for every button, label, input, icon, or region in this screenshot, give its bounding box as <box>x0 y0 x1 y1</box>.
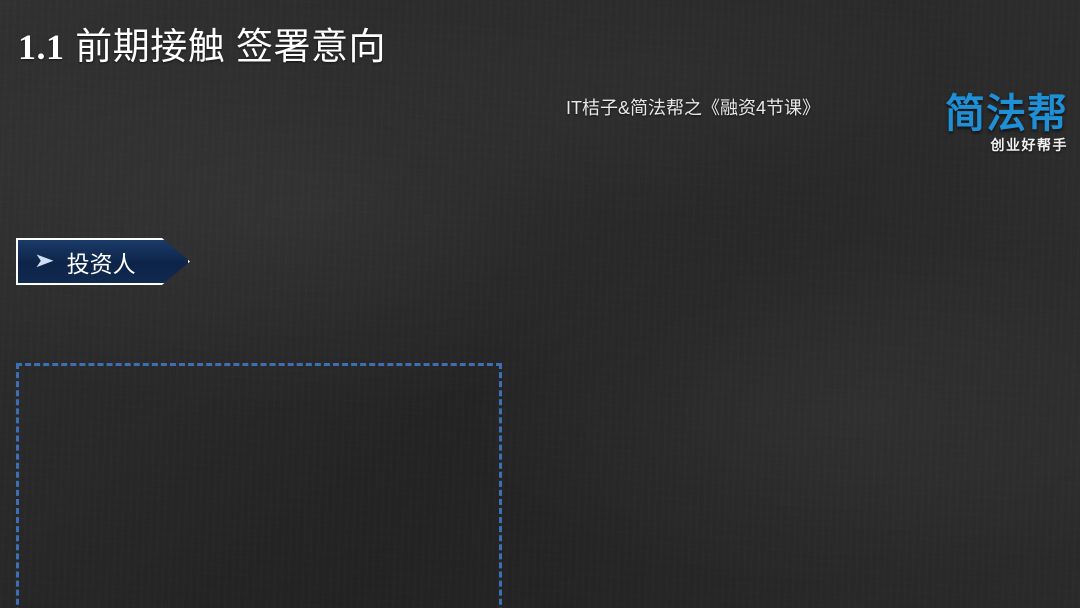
title-text: 前期接触 签署意向 <box>75 26 386 67</box>
chevron-right-icon: ➤ <box>34 252 55 272</box>
slide-canvas: 1.1 前期接触 签署意向 IT桔子&简法帮之《融资4节课》 简法帮 创业好帮手… <box>0 0 1080 608</box>
logo-tagline: 创业好帮手 <box>0 138 1068 152</box>
brand-logo: 简法帮 创业好帮手 <box>0 94 1068 152</box>
panel-investor-types <box>16 363 502 608</box>
section-banner-label: 投资人 <box>67 245 136 279</box>
title-number: 1.1 <box>18 27 65 67</box>
page-title: 1.1 前期接触 签署意向 <box>18 16 1080 70</box>
section-banner-investor: ➤ 投资人 <box>16 238 190 285</box>
logo-wordmark: 简法帮 <box>0 94 1068 134</box>
